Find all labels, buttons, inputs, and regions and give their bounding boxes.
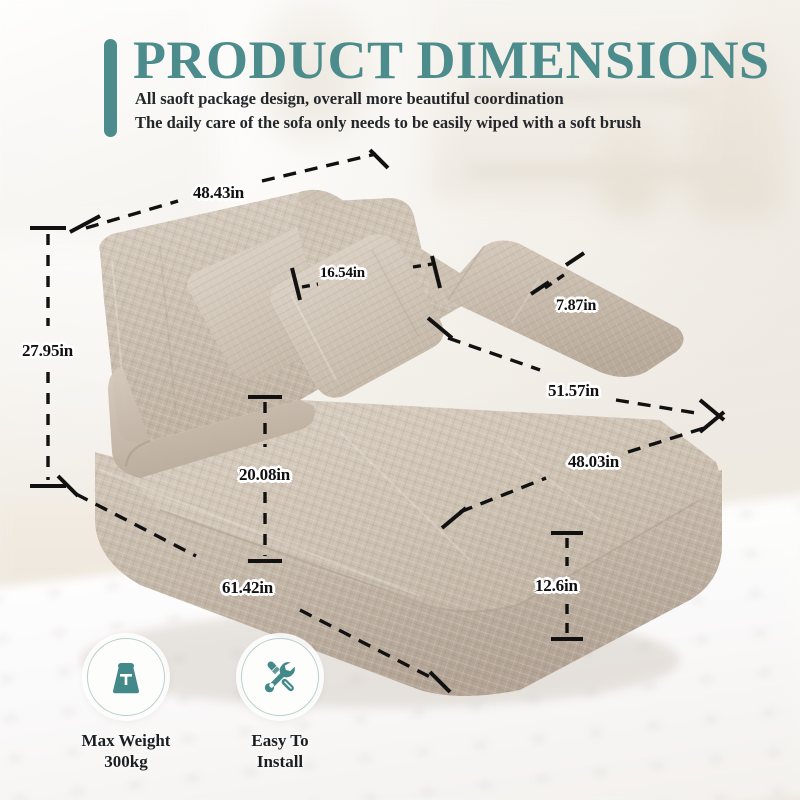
infographic-canvas: 48.43in27.95in16.54in7.87in51.57in48.03i… bbox=[0, 0, 800, 800]
dimension-label-pillow-width: 16.54in bbox=[320, 265, 365, 282]
dimension-label-overall-width: 61.42in bbox=[222, 578, 273, 598]
subtitle-line-1: All saoft package design, overall more b… bbox=[135, 89, 564, 109]
accent-bar bbox=[104, 39, 117, 137]
dimension-line-overall-depth bbox=[428, 318, 724, 420]
feature-icon-circle bbox=[87, 638, 165, 716]
dimension-label-overall-height: 27.95in bbox=[22, 341, 73, 361]
dimension-label-seat-depth: 48.03in bbox=[568, 452, 619, 472]
dimension-label-overall-depth: 51.57in bbox=[548, 381, 599, 401]
feature-label-line-2: Install bbox=[257, 752, 303, 771]
feature-label-line-1: Easy To bbox=[251, 731, 308, 750]
page-title: PRODUCT DIMENSIONS bbox=[133, 33, 770, 87]
feature-icon-circle bbox=[241, 638, 319, 716]
feature-max-weight: Max Weight 300kg bbox=[46, 638, 206, 772]
dimension-label-armrest-width: 7.87in bbox=[556, 297, 596, 315]
dimension-label-backrest-width: 48.43in bbox=[193, 183, 244, 203]
dimension-label-base-height: 12.6in bbox=[535, 576, 578, 596]
feature-label: Max Weight 300kg bbox=[46, 730, 206, 772]
weight-icon bbox=[103, 654, 149, 700]
subtitle-line-2: The daily care of the sofa only needs to… bbox=[135, 113, 641, 133]
feature-label-line-1: Max Weight bbox=[82, 731, 171, 750]
tools-icon bbox=[257, 654, 303, 700]
dimension-line-pillow-width bbox=[292, 256, 440, 300]
dimension-line-armrest-width bbox=[531, 253, 584, 294]
feature-easy-install: Easy To Install bbox=[200, 638, 360, 772]
dimension-label-seat-height: 20.08in bbox=[239, 465, 290, 485]
feature-label-line-2: 300kg bbox=[104, 752, 147, 771]
feature-label: Easy To Install bbox=[200, 730, 360, 772]
